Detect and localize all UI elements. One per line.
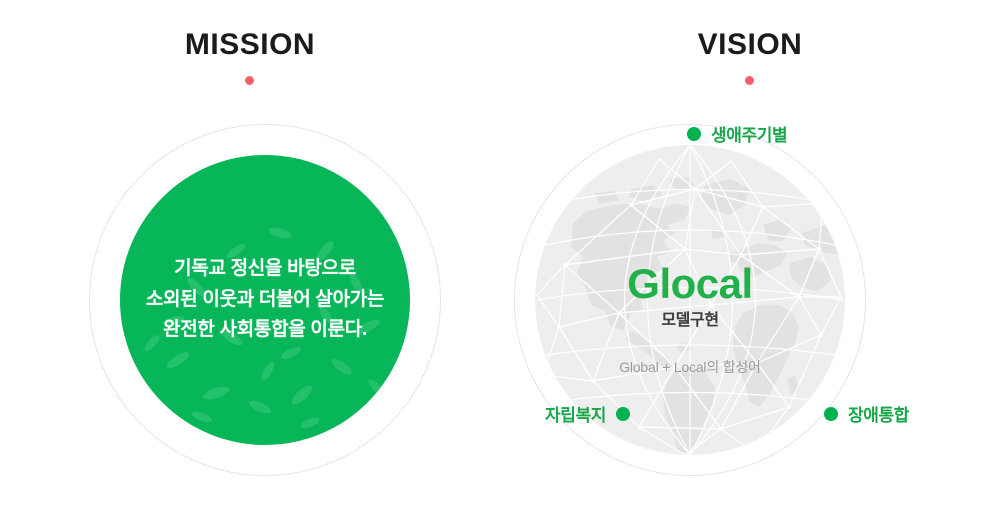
node-dot-icon (824, 407, 838, 421)
node-dot-icon (616, 407, 630, 421)
vision-panel: VISION (500, 0, 1000, 531)
mission-circle: 기독교 정신을 바탕으로 소외된 이웃과 더불어 살아가는 완전한 사회통합을 … (120, 155, 410, 445)
mission-statement-line-3: 완전한 사회통합을 이룬다. (163, 315, 367, 346)
vision-node-label: 장애통합 (848, 401, 909, 426)
mission-statement-line-1: 기독교 정신을 바탕으로 (174, 254, 356, 285)
vision-node-independent-welfare: 자립복지 (545, 401, 630, 426)
vision-accent-dot-icon (745, 76, 754, 85)
vision-node-label: 자립복지 (545, 401, 606, 426)
mission-title: MISSION (0, 28, 500, 61)
mission-panel: MISSION (0, 0, 500, 531)
vision-node-lifecycle: 생애주기별 (687, 121, 787, 146)
vision-node-label: 생애주기별 (711, 121, 787, 146)
vision-node-disability-inclusion: 장애통합 (824, 401, 909, 426)
mission-statement: 기독교 정신을 바탕으로 소외된 이웃과 더불어 살아가는 완전한 사회통합을 … (120, 155, 410, 445)
mission-accent-dot-icon (245, 76, 254, 85)
vision-title: VISION (500, 28, 1000, 61)
node-dot-icon (687, 127, 701, 141)
mission-statement-line-2: 소외된 이웃과 더불어 살아가는 (146, 285, 384, 316)
